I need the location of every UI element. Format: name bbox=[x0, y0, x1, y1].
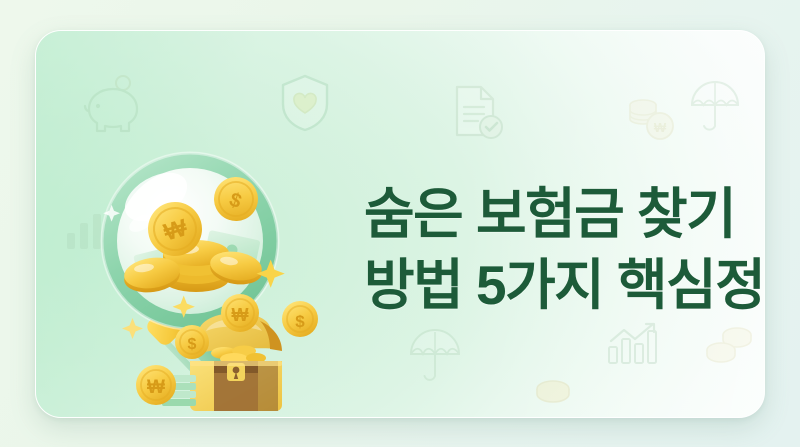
title-line-2: 방법 5가지 핵심정리 bbox=[364, 250, 765, 321]
title-line-1: 숨은 보험금 찾기 bbox=[364, 179, 765, 250]
svg-text:₩: ₩ bbox=[654, 120, 667, 135]
svg-text:$: $ bbox=[188, 336, 197, 353]
svg-text:₩: ₩ bbox=[232, 305, 249, 325]
svg-text:₩: ₩ bbox=[147, 377, 165, 398]
piggy-bank-icon bbox=[81, 73, 147, 135]
coin-floating-won-1: ₩ bbox=[221, 294, 259, 332]
sparkle-icon bbox=[122, 318, 143, 339]
umbrella-icon bbox=[688, 79, 742, 135]
growth-chart-icon bbox=[606, 319, 662, 367]
coin-floating-dollar-2: $ bbox=[175, 325, 209, 359]
single-coin-icon bbox=[534, 379, 572, 407]
banner-stage: ₩ bbox=[0, 0, 800, 447]
magnifying-glass-illustration: ₩ $ bbox=[78, 127, 378, 418]
coin-floating-dollar-1: $ bbox=[282, 301, 318, 337]
document-check-icon bbox=[451, 83, 505, 143]
banner-card: ₩ bbox=[35, 30, 765, 418]
coin-floating-won-2: ₩ bbox=[136, 365, 176, 405]
title-block: 숨은 보험금 찾기 방법 5가지 핵심정리 bbox=[364, 179, 765, 321]
svg-text:$: $ bbox=[295, 312, 305, 331]
shield-heart-icon bbox=[279, 73, 331, 133]
umbrella-icon bbox=[407, 328, 463, 386]
coin-stack-won-icon: ₩ bbox=[624, 93, 680, 149]
coin-pair-icon bbox=[704, 321, 756, 369]
